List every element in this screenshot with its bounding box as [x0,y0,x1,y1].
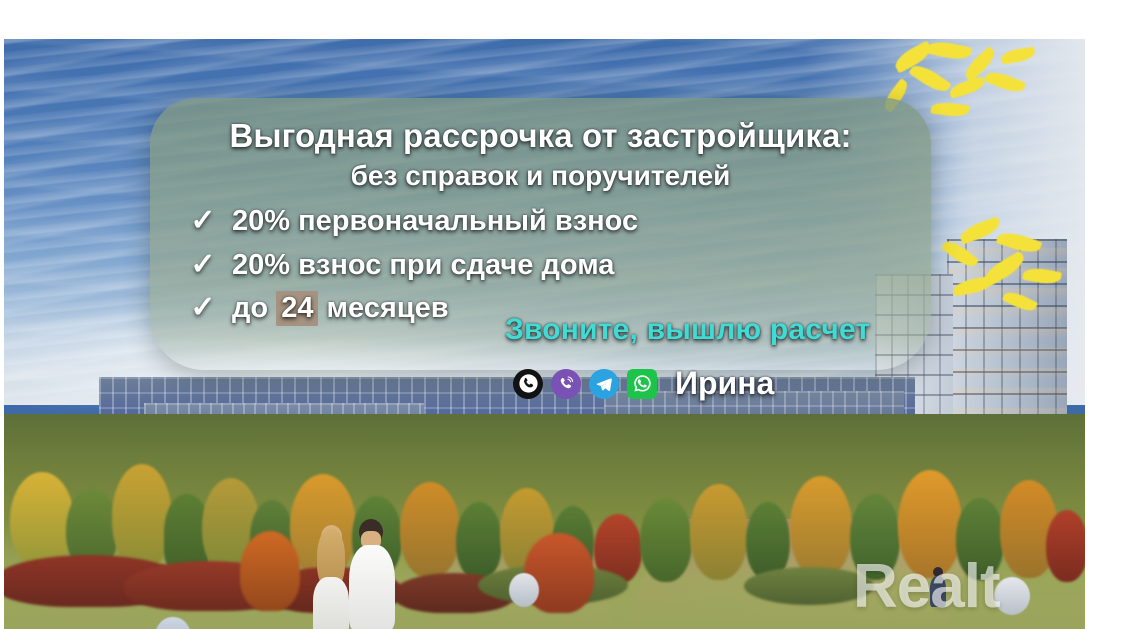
list-item: ✓ 20% взнос при сдаче дома [190,250,905,280]
list-item-label: до 24 месяцев [232,293,449,323]
contact-row: Ирина [513,365,774,402]
realt-watermark: Realt [853,551,1000,622]
agent-name: Ирина [675,365,774,402]
autumn-leaves-mid-right [919,217,1079,317]
bullet-text-pre: 20% первоначальный взнос [232,205,638,237]
offer-bullet-list: ✓ 20% первоначальный взнос ✓ 20% взнос п… [190,206,905,323]
ad-banner-canvas: Realt Выгодная рассрочка от застройщика:… [0,0,1122,629]
bullet-text-pre: 20% взнос при сдаче дома [232,249,614,281]
check-icon: ✓ [190,293,216,323]
bullet-text-post: месяцев [318,292,448,324]
page-title: Выгодная рассрочка от застройщика: [176,118,905,155]
person-man [347,519,399,629]
phone-icon[interactable] [513,369,543,399]
call-to-action-text: Звоните, вышлю расчет [505,313,870,347]
list-item-label: 20% взнос при сдаче дома [232,250,614,280]
whatsapp-icon[interactable] [627,369,657,399]
bullet-text-pre: до [232,292,276,324]
check-icon: ✓ [190,206,216,236]
sphere-sculpture-right [509,573,539,607]
viber-icon[interactable] [551,369,581,399]
check-icon: ✓ [190,250,216,280]
list-item-label: 20% первоначальный взнос [232,206,638,236]
telegram-icon[interactable] [589,369,619,399]
term-highlight: 24 [276,291,318,326]
list-item: ✓ 20% первоначальный взнос [190,206,905,236]
page-subtitle: без справок и поручителей [176,160,905,192]
